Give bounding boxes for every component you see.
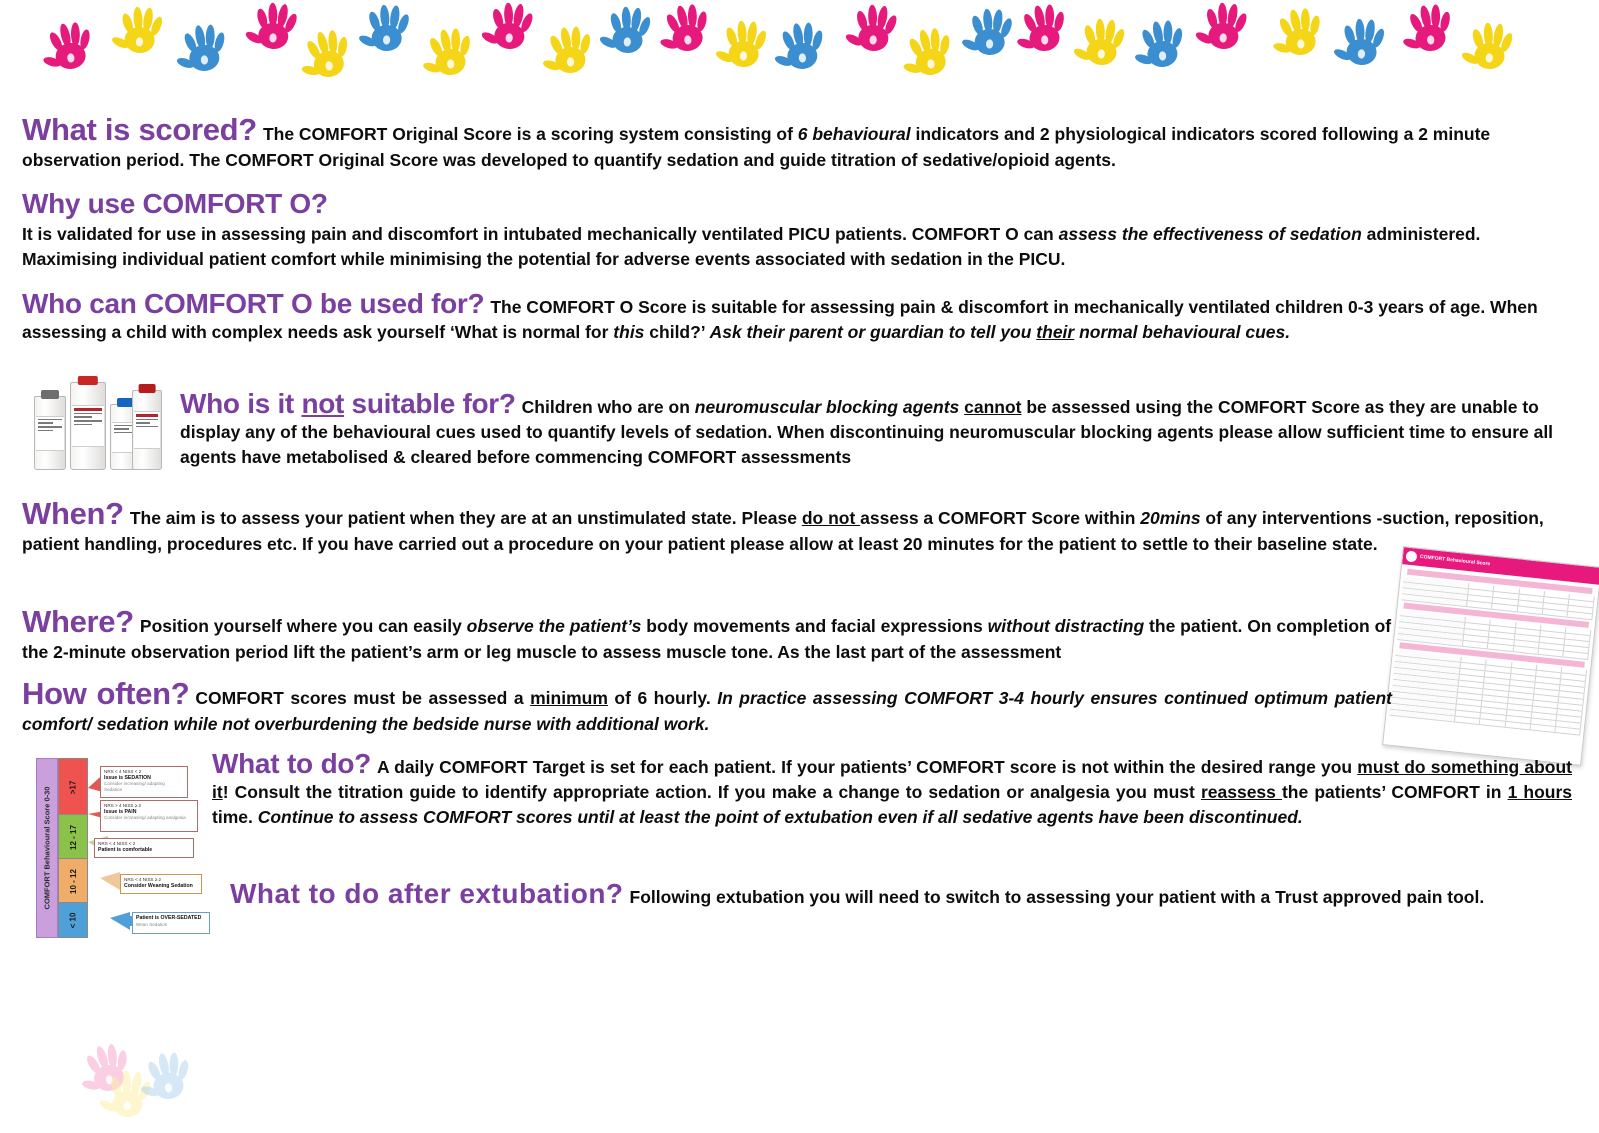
heading-run: Who is it — [180, 388, 301, 419]
section-what-to-do-after-extubation: What to do after extubation?Following ex… — [230, 878, 1570, 910]
text-run: assess a COMFORT Score within — [860, 508, 1140, 528]
heading-run-underline: not — [301, 388, 344, 419]
text-run-italic-underline: their — [1036, 322, 1074, 342]
text-run: COMFORT scores must be assessed a — [195, 688, 530, 708]
heading-run: suitable for? — [344, 388, 516, 419]
titration-box: NRS < 4 NISS < 2 Issue is SEDATION Consi… — [100, 766, 188, 798]
titration-axis: COMFORT Behavioural Score 0-30 — [36, 758, 58, 938]
section-who-is-it-not-suitable-for: Who is it not suitable for?Children who … — [180, 388, 1572, 470]
titration-guide-diagram: COMFORT Behavioural Score 0-30 >17 12 - … — [36, 752, 204, 942]
titration-band: >17 — [58, 758, 88, 816]
text-run: of 6 hourly. — [608, 688, 717, 708]
section-how-often: How often?COMFORT scores must be assesse… — [22, 676, 1392, 737]
heading-what-to-do-after-extubation: What to do after extubation? — [230, 878, 624, 909]
text-run-italic: Continue to assess COMFORT scores until … — [258, 807, 1303, 827]
titration-band-label: 10 - 12 — [69, 869, 78, 894]
titration-box: Patient is OVER-SEDATED Wean Sedation — [132, 912, 210, 934]
titration-band-label: 12 - 17 — [69, 825, 78, 850]
text-run-italic: this — [613, 322, 644, 342]
text-run-italic: observe the patient’s — [467, 616, 642, 636]
titration-box-action: Issue is PAIN — [104, 809, 136, 815]
text-run-underline: do not — [802, 508, 860, 528]
section-what-is-scored: What is scored?The COMFORT Original Scor… — [22, 112, 1582, 173]
section-why-use-comfort-o-text: It is validated for use in assessing pai… — [22, 222, 1492, 272]
section-why-use-comfort-o: Why use COMFORT O? It is validated for u… — [22, 188, 1492, 272]
titration-band: 10 - 12 — [58, 858, 88, 904]
heading-how-often: How often? — [22, 676, 189, 711]
text-run-italic: Ask their parent or guardian to tell you — [710, 322, 1037, 342]
text-run: Position yourself where you can easily — [140, 616, 467, 636]
text-run: the patients’ COMFORT in — [1282, 782, 1508, 802]
text-run-underline: cannot — [964, 397, 1021, 417]
titration-box-detail: Consider increasing/ adapting analgesia — [104, 815, 194, 821]
section-what-to-do-after-extubation-text: Following extubation you will need to sw… — [630, 887, 1485, 907]
titration-box: NRS < 4 NISS ≥ 2 Consider Weaning Sedati… — [120, 874, 202, 894]
text-run-italic: 6 behavioural — [798, 124, 911, 144]
titration-band-label: >17 — [68, 780, 77, 794]
text-run: A daily COMFORT Target is set for each p… — [377, 757, 1357, 777]
text-run: It is validated for use in assessing pai… — [22, 224, 1059, 244]
section-when-text: The aim is to assess your patient when t… — [22, 508, 1544, 554]
titration-box: NRS < 4 NISS < 2 Patient is comfortable — [94, 838, 194, 858]
titration-box-detail: Consider increasing/ adapting Sedation — [104, 781, 184, 792]
faded-handprints — [80, 1038, 240, 1128]
text-run-underline: minimum — [530, 688, 608, 708]
heading-who-is-it-not-suitable-for: Who is it not suitable for? — [180, 388, 516, 419]
titration-box-detail: Wean Sedation — [136, 922, 206, 928]
text-run-italic: 20mins — [1140, 508, 1200, 528]
heading-what-to-do: What to do? — [212, 748, 371, 779]
section-where-text: Position yourself where you can easily o… — [22, 616, 1391, 662]
heading-when: When? — [22, 496, 124, 531]
document-body: COMFORT Behavioural Score — [0, 96, 1599, 1040]
faded-handprints-svg — [80, 1038, 240, 1128]
section-where: Where?Position yourself where you can ea… — [22, 604, 1397, 665]
titration-box-action: Issue is SEDATION — [104, 775, 151, 781]
text-run: body movements and facial expressions — [641, 616, 987, 636]
text-run-underline: reassess — [1201, 782, 1282, 802]
handprint-border-svg — [0, 0, 1599, 96]
heading-what-is-scored: What is scored? — [22, 112, 257, 147]
text-run-italic: neuromuscular blocking agents — [695, 397, 960, 417]
medication-vials-photo — [28, 378, 168, 472]
titration-band: 12 - 17 — [58, 814, 88, 860]
text-run: child?’ — [644, 322, 709, 342]
section-how-often-text: COMFORT scores must be assessed a minimu… — [22, 688, 1392, 734]
titration-band: < 10 — [58, 902, 88, 938]
titration-box-action: Patient is OVER-SEDATED — [136, 915, 201, 921]
titration-box-action: Consider Weaning Sedation — [124, 883, 193, 889]
text-run: ! Consult the titration guide to identif… — [223, 782, 1201, 802]
text-run: The COMFORT Original Score is a scoring … — [263, 124, 798, 144]
heading-where: Where? — [22, 604, 134, 639]
comfort-behavioural-score-chart-scan: COMFORT Behavioural Score — [1382, 546, 1599, 766]
text-run: be assessed — [1022, 397, 1131, 417]
section-what-to-do: What to do?A daily COMFORT Target is set… — [212, 748, 1572, 830]
heading-who-can-comfort-o-be-used-for: Who can COMFORT O be used for? — [22, 288, 484, 319]
text-run-italic: without distracting — [988, 616, 1145, 636]
titration-axis-label: COMFORT Behavioural Score 0-30 — [43, 787, 52, 910]
section-when: When?The aim is to assess your patient w… — [22, 496, 1567, 557]
titration-band-label: < 10 — [68, 912, 77, 928]
text-run-italic: normal behavioural cues. — [1074, 322, 1290, 342]
text-run: Following extubation you will need to sw… — [630, 887, 1485, 907]
text-run: The aim is to assess your patient when t… — [130, 508, 802, 528]
text-run-underline: 1 hours — [1508, 782, 1572, 802]
section-what-to-do-text: A daily COMFORT Target is set for each p… — [212, 757, 1572, 827]
handprint-border — [0, 0, 1599, 96]
titration-box: NRS > 4 NISS ≥ 2 Issue is PAIN Consider … — [100, 800, 198, 832]
text-run: time. — [212, 807, 258, 827]
text-run: Children who are on — [522, 397, 695, 417]
text-run-italic: assess the effectiveness of sedation — [1059, 224, 1362, 244]
titration-box-action: Patient is comfortable — [98, 847, 152, 853]
heading-why-use-comfort-o: Why use COMFORT O? — [22, 188, 1492, 220]
section-who-can-comfort-o-be-used-for: Who can COMFORT O be used for?The COMFOR… — [22, 288, 1567, 345]
